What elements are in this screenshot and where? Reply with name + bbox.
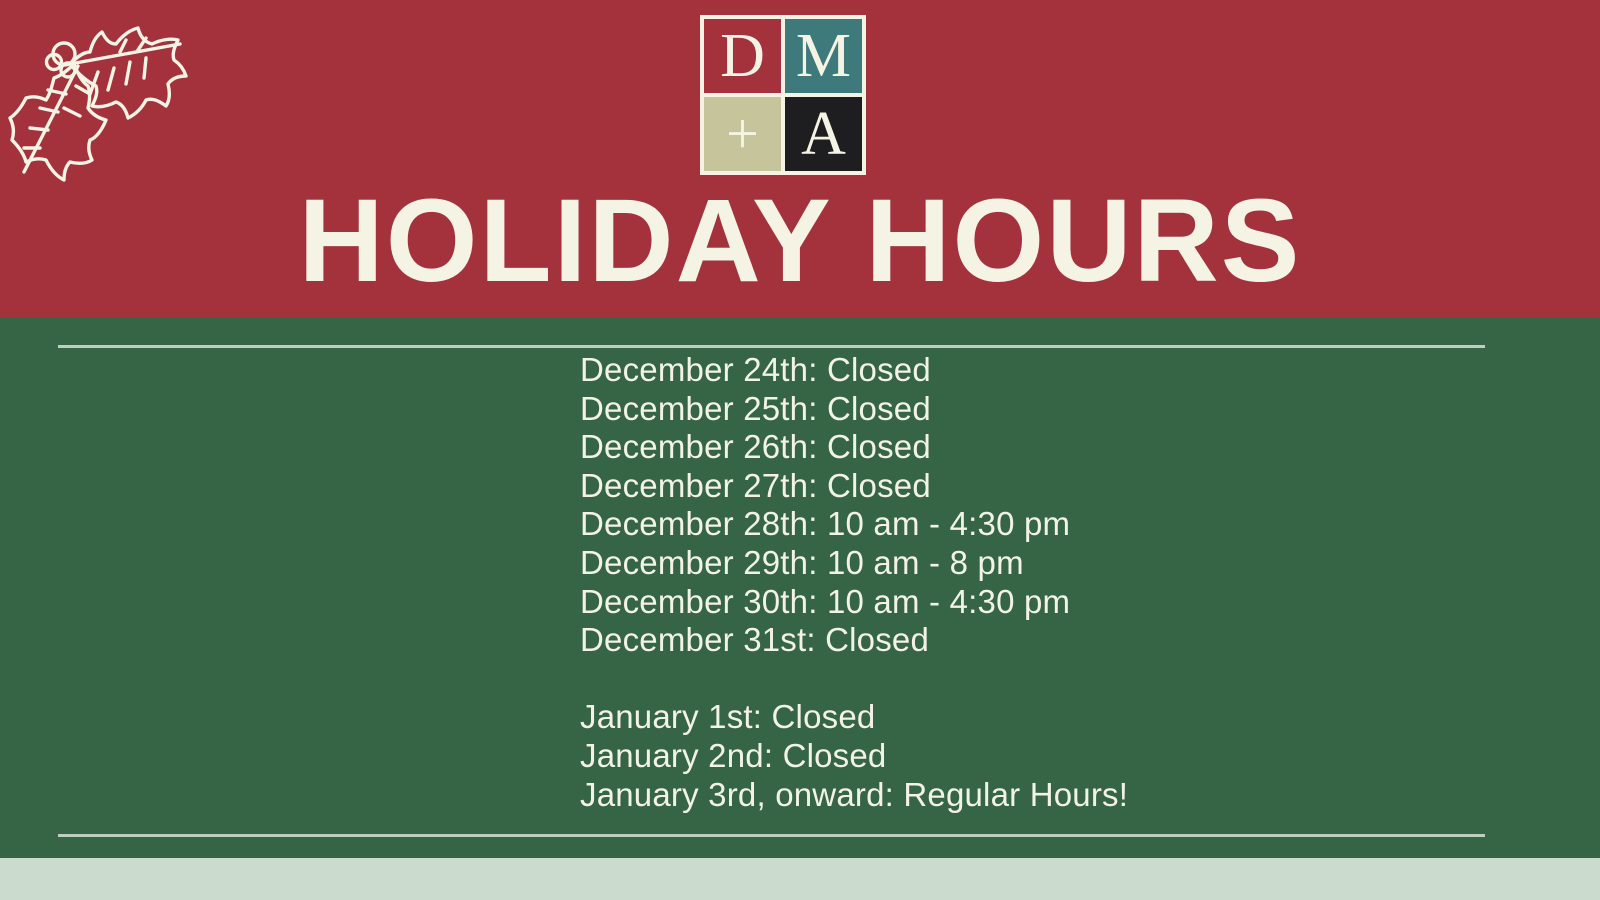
page-title: HOLIDAY HOURS <box>0 182 1600 300</box>
list-spacer <box>580 660 1480 699</box>
list-item: December 27th: Closed <box>580 467 1480 506</box>
list-item: January 2nd: Closed <box>580 737 1480 776</box>
logo-cell-a: A <box>785 97 862 171</box>
list-item: December 30th: 10 am - 4:30 pm <box>580 583 1480 622</box>
hours-list: December 24th: Closed December 25th: Clo… <box>580 351 1480 814</box>
logo-cell-plus: + <box>704 97 781 171</box>
header-band: D M + A HOLIDAY HOURS <box>0 0 1600 318</box>
list-item: December 26th: Closed <box>580 428 1480 467</box>
holiday-hours-poster: D M + A HOLIDAY HOURS December 24th: Clo… <box>0 0 1600 900</box>
list-item: December 24th: Closed <box>580 351 1480 390</box>
list-item: December 31st: Closed <box>580 621 1480 660</box>
list-item: January 3rd, onward: Regular Hours! <box>580 776 1480 815</box>
hours-panel: December 24th: Closed December 25th: Clo… <box>0 318 1600 858</box>
footer-band <box>0 858 1600 900</box>
list-item: January 1st: Closed <box>580 698 1480 737</box>
divider-top <box>58 345 1485 348</box>
list-item: December 29th: 10 am - 8 pm <box>580 544 1480 583</box>
divider-bottom <box>58 834 1485 837</box>
logo-cell-m: M <box>785 19 862 93</box>
logo-cell-d: D <box>704 19 781 93</box>
holly-sprig-icon <box>2 8 202 188</box>
list-item: December 28th: 10 am - 4:30 pm <box>580 505 1480 544</box>
dma-logo: D M + A <box>700 15 866 175</box>
list-item: December 25th: Closed <box>580 390 1480 429</box>
